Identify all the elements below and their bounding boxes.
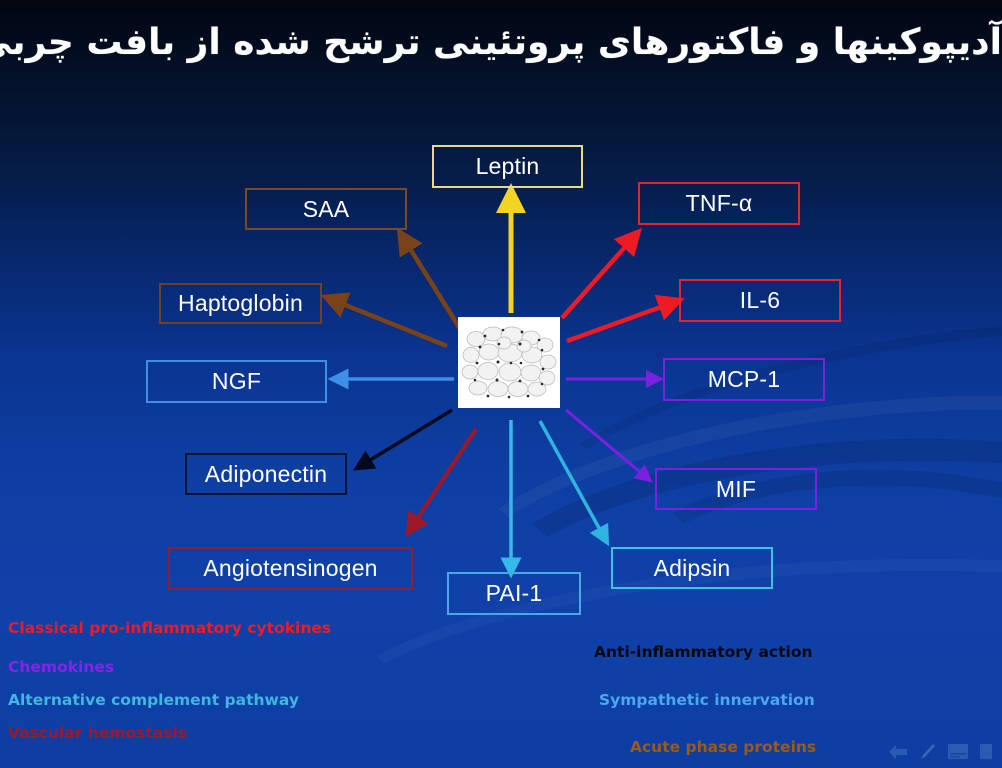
node-saa[interactable]: SAA [245,188,407,230]
arrow-to-saa [404,239,464,335]
legend-item-alternative-complement-pathway: Alternative complement pathway [8,691,299,709]
node-mif[interactable]: MIF [655,468,817,510]
presentation-slide: آدیپوکینها و فاکتورهای پروتئینی ترشح شده… [0,0,1002,768]
slide-menu-icon[interactable] [948,744,968,759]
node-label: TNF-α [686,190,753,217]
arrow-to-haptoglobin [333,300,447,346]
legend-item-acute-phase-proteins: Acute phase proteins [630,738,816,756]
arrow-to-mif [566,410,646,477]
node-il-6[interactable]: IL-6 [679,279,841,322]
arrow-to-il-6 [567,303,672,341]
arrow-to-adiponectin [362,410,452,465]
node-label: Leptin [476,153,540,180]
legend-item-anti-inflammatory-action: Anti-inflammatory action [594,643,813,661]
node-label: PAI-1 [486,580,543,607]
node-adiponectin[interactable]: Adiponectin [185,453,347,495]
node-label: Angiotensinogen [203,555,377,582]
node-label: Adiponectin [205,461,327,488]
pen-annotation-icon[interactable] [920,743,936,760]
node-tnf-alpha[interactable]: TNF-α [638,182,800,225]
slide-title: آدیپوکینها و فاکتورهای پروتئینی ترشح شده… [0,20,1002,65]
node-label: Haptoglobin [178,290,303,317]
more-options-icon[interactable] [980,744,992,759]
previous-slide-icon[interactable] [888,744,908,760]
node-label: Adipsin [654,555,731,582]
node-label: MIF [716,476,756,503]
legend-item-chemokines: Chemokines [8,658,114,676]
arrow-to-tnf-alpha [562,238,633,318]
legend-item-classical-pro-inflammatory-cytokines: Classical pro-inflammatory cytokines [8,619,331,637]
node-label: NGF [212,368,261,395]
slideshow-controls[interactable] [888,743,992,760]
legend-item-vascular-hemostasis: Vascular hemostasis [8,724,187,742]
legend-item-sympathetic-innervation: Sympathetic innervation [599,691,815,709]
node-adipsin[interactable]: Adipsin [611,547,773,589]
node-label: SAA [303,196,350,223]
node-leptin[interactable]: Leptin [432,145,583,188]
node-angiotensinogen[interactable]: Angiotensinogen [168,547,413,590]
node-pai-1[interactable]: PAI-1 [447,572,581,615]
node-haptoglobin[interactable]: Haptoglobin [159,283,322,324]
node-label: IL-6 [740,287,780,314]
adipose-tissue-image [458,317,560,408]
arrow-to-angiotensinogen [412,429,476,527]
node-ngf[interactable]: NGF [146,360,327,403]
node-label: MCP-1 [708,366,781,393]
node-mcp-1[interactable]: MCP-1 [663,358,825,401]
arrow-to-adipsin [540,421,604,537]
